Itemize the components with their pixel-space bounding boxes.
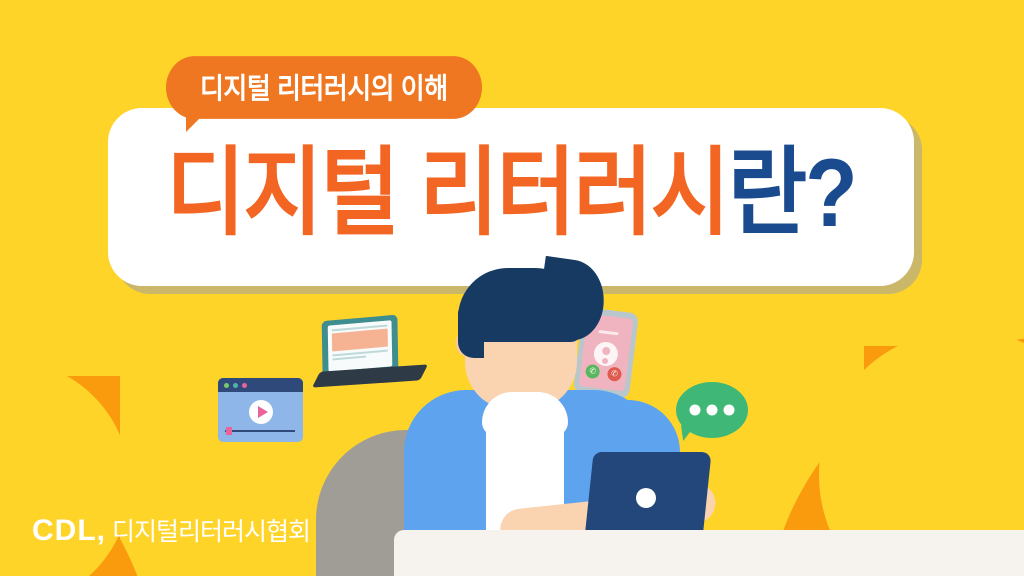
slide-canvas: 디지털 리터러시란? 디지털 리터러시의 이해 ✆ ✆ <box>0 0 1024 576</box>
page-title: 디지털 리터러시란? <box>166 145 855 248</box>
window-dot-icon <box>242 383 247 388</box>
typing-dot-icon <box>724 405 735 416</box>
video-progress-track <box>225 430 295 432</box>
caller-name-placeholder <box>598 330 618 335</box>
floating-laptop-screen <box>328 320 393 372</box>
window-dot-icon <box>233 383 238 388</box>
logo-mark: CDL, <box>32 514 106 548</box>
page-title-accent: 란? <box>728 140 856 248</box>
video-progress-knob <box>226 427 232 435</box>
video-player-icon <box>218 378 303 442</box>
desk-surface <box>394 530 1024 576</box>
screen-image-block <box>332 329 388 352</box>
screen-line <box>332 356 366 361</box>
chat-typing-dots <box>690 405 735 416</box>
caller-avatar-icon <box>593 341 620 368</box>
section-badge: 디지털 리터러시의 이해 <box>166 59 482 116</box>
person-shirt-collar <box>482 392 568 436</box>
chat-bubble-icon <box>676 382 748 438</box>
section-badge-tail <box>186 112 206 132</box>
laptop-logo-icon <box>636 488 656 508</box>
call-accept-icon: ✆ <box>585 364 601 380</box>
play-icon <box>249 400 273 424</box>
typing-dot-icon <box>707 405 718 416</box>
section-badge-label: 디지털 리터러시의 이해 <box>166 56 482 119</box>
logo-name: 디지털리터러시협회 <box>112 512 310 548</box>
page-title-primary: 디지털 리터러시 <box>166 140 728 248</box>
call-reject-icon: ✆ <box>607 366 623 382</box>
title-card: 디지털 리터러시란? <box>108 108 914 286</box>
typing-dot-icon <box>690 405 701 416</box>
video-player-titlebar <box>218 378 303 392</box>
organization-logo: CDL, 디지털리터러시협회 <box>32 512 310 548</box>
window-dot-icon <box>224 383 229 388</box>
